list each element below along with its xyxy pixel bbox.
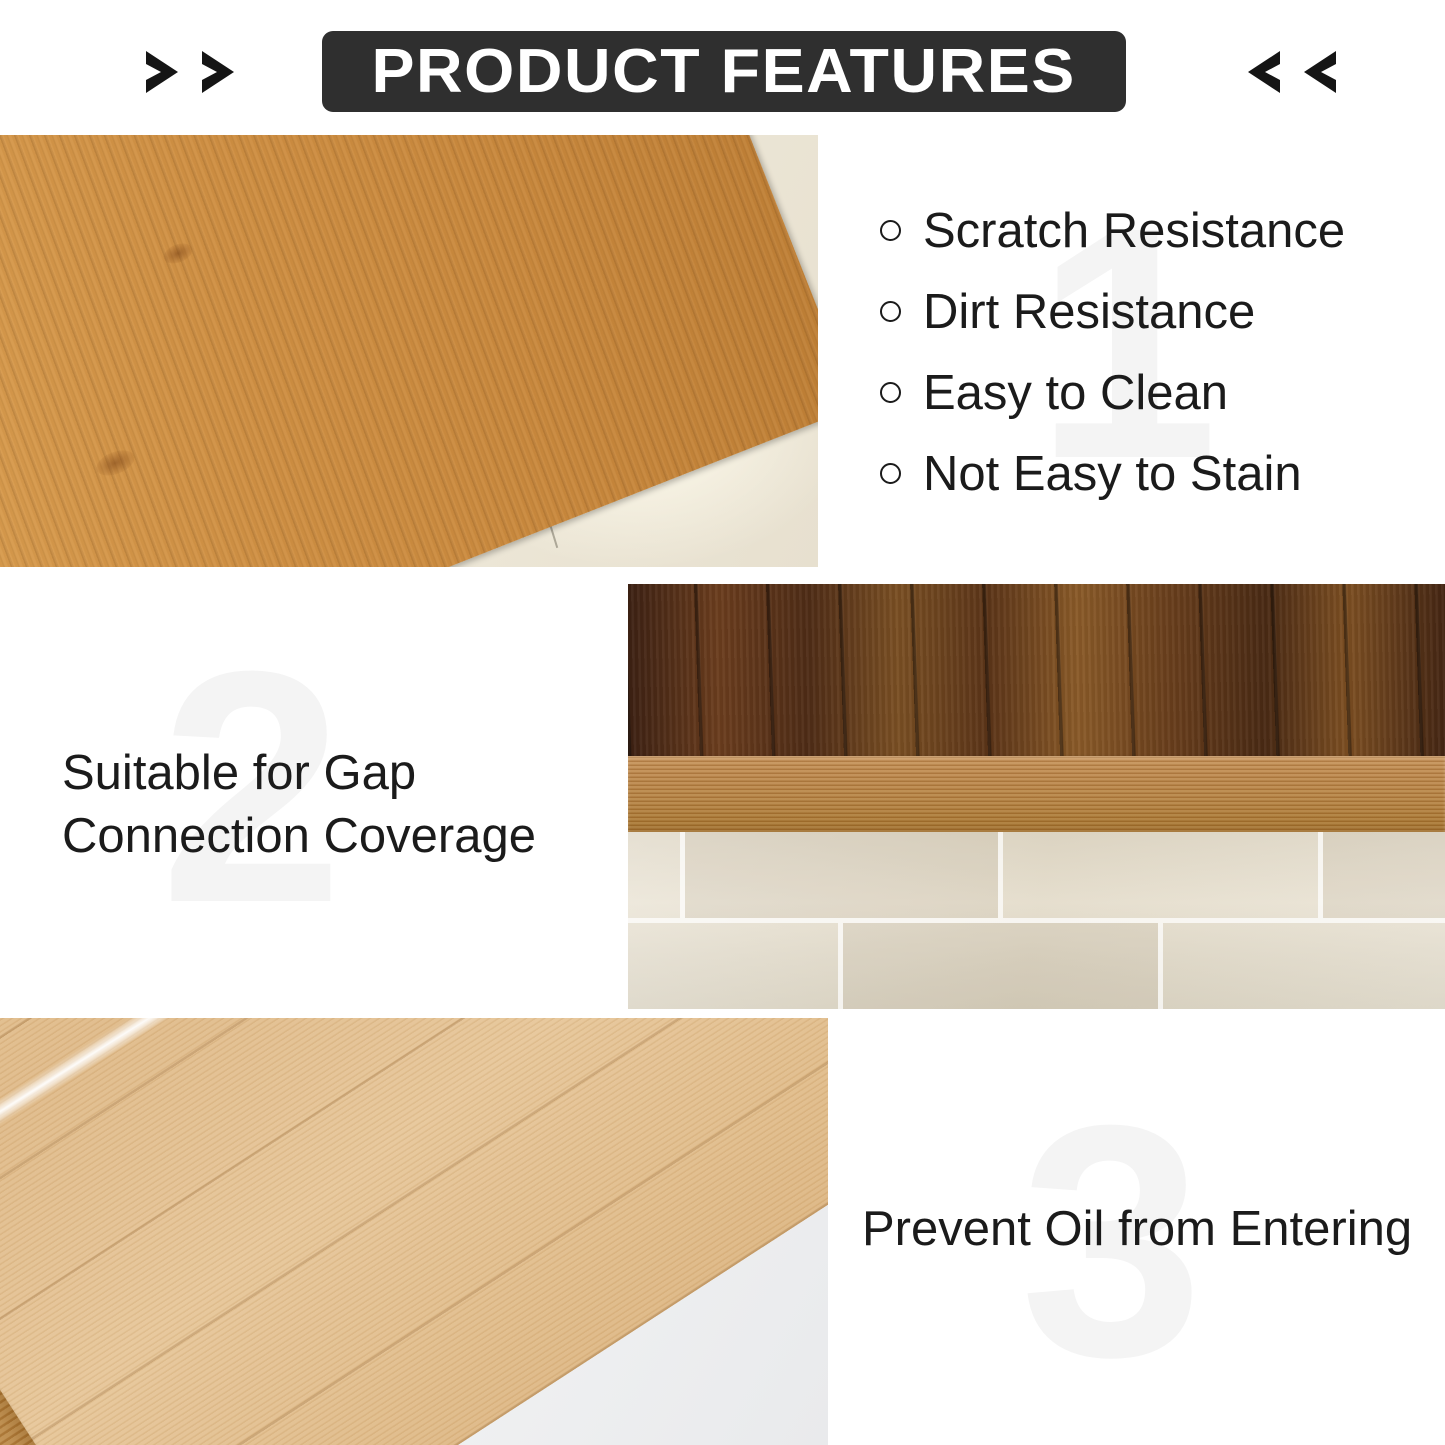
- list-item: Scratch Resistance: [880, 190, 1420, 271]
- page-title: PRODUCT FEATURES: [372, 41, 1076, 103]
- chevron-right-icon: [198, 47, 242, 97]
- feature-caption-3: Prevent Oil from Entering: [862, 1198, 1442, 1261]
- list-item: Dirt Resistance: [880, 271, 1420, 352]
- double-chevron-right-icon: [142, 47, 242, 97]
- feature-photo-3: [0, 1018, 828, 1445]
- chevron-right-icon: [142, 47, 186, 97]
- feature-caption-2: Suitable for Gap Connection Coverage: [62, 742, 582, 867]
- bullet-circle-icon: [880, 382, 901, 403]
- oak-transition-strip: [628, 756, 1445, 834]
- list-item-label: Not Easy to Stain: [923, 446, 1302, 502]
- feature-photo-1: [0, 135, 818, 567]
- caption-line: Connection Coverage: [62, 805, 582, 868]
- bullet-circle-icon: [880, 301, 901, 322]
- bullet-circle-icon: [880, 220, 901, 241]
- caption-line: Suitable for Gap: [62, 742, 582, 805]
- caption-line: Prevent Oil from Entering: [862, 1198, 1442, 1261]
- page-title-badge: PRODUCT FEATURES: [322, 31, 1126, 112]
- feature-photo-2: [628, 584, 1445, 1009]
- list-item: Easy to Clean: [880, 352, 1420, 433]
- chevron-left-icon: [1240, 47, 1284, 97]
- feature-list: Scratch Resistance Dirt Resistance Easy …: [880, 190, 1420, 514]
- feature-caption-block-2: Suitable for Gap Connection Coverage: [62, 742, 582, 867]
- travertine-tile-surface: [628, 832, 1445, 1009]
- list-item-label: Easy to Clean: [923, 365, 1228, 421]
- double-chevron-left-icon: [1240, 47, 1340, 97]
- feature-caption-block-3: Prevent Oil from Entering: [862, 1198, 1442, 1261]
- list-item-label: Scratch Resistance: [923, 203, 1345, 259]
- chevron-left-icon: [1296, 47, 1340, 97]
- bullet-circle-icon: [880, 463, 901, 484]
- product-features-infographic: PRODUCT FEATURES: [0, 0, 1445, 1445]
- dark-wood-planks-surface: [628, 584, 1445, 759]
- feature-list-block: Scratch Resistance Dirt Resistance Easy …: [880, 190, 1420, 514]
- list-item-label: Dirt Resistance: [923, 284, 1255, 340]
- header: PRODUCT FEATURES: [0, 0, 1445, 132]
- list-item: Not Easy to Stain: [880, 433, 1420, 514]
